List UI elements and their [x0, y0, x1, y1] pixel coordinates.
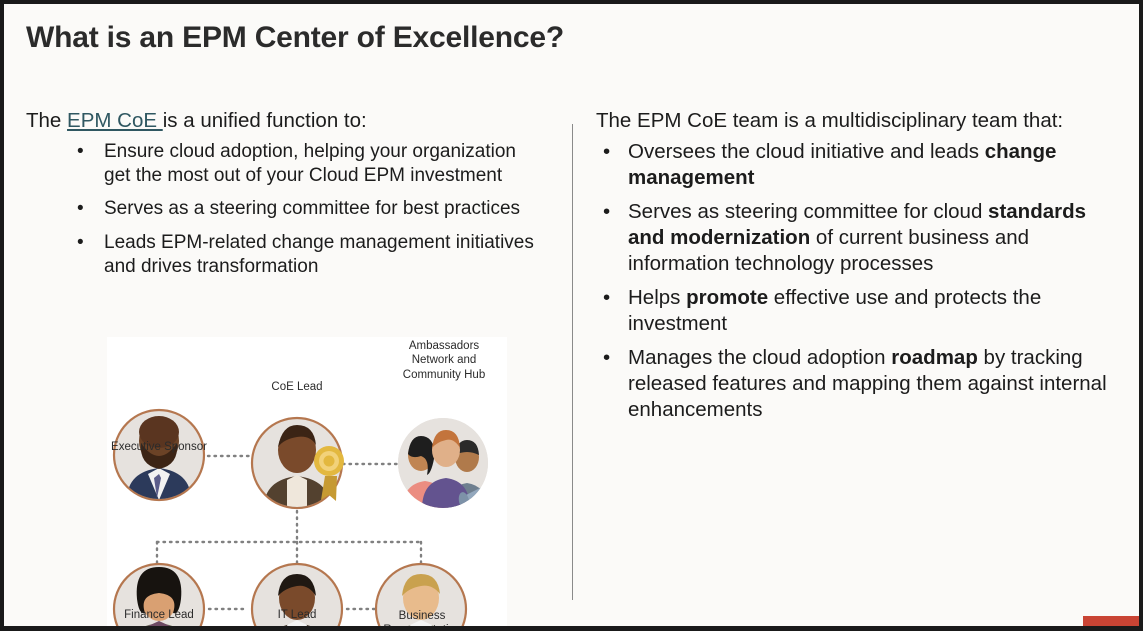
left-intro-paragraph: The EPM CoE is a unified function to: — [26, 108, 546, 134]
list-item-label: Helps promote effective use and protects… — [628, 286, 1041, 335]
list-item-label: Ensure cloud adoption, helping your orga… — [104, 141, 516, 186]
list-item: •Serves as a steering committee for best… — [74, 197, 546, 221]
list-item: •Serves as steering committee for cloud … — [600, 199, 1116, 277]
list-item-label: Serves as steering committee for cloud s… — [628, 200, 1086, 275]
bullet-marker-icon: • — [603, 139, 610, 165]
bullet-marker-icon: • — [77, 140, 84, 164]
bullet-marker-icon: • — [603, 345, 610, 371]
list-item: •Helps promote effective use and protect… — [600, 285, 1116, 337]
epm-coe-link[interactable]: EPM CoE — [67, 109, 163, 132]
accent-bar — [1083, 616, 1139, 628]
left-bullet-list: •Ensure cloud adoption, helping your org… — [74, 140, 546, 279]
left-column: The EPM CoE is a unified function to: •E… — [26, 108, 546, 288]
bullet-marker-icon: • — [77, 197, 84, 221]
list-item: •Oversees the cloud initiative and leads… — [600, 139, 1116, 191]
left-intro-suffix: is a unified function to: — [163, 109, 367, 132]
list-item-label: Oversees the cloud initiative and leads … — [628, 140, 1056, 189]
list-item: •Manages the cloud adoption roadmap by t… — [600, 345, 1116, 423]
list-item-label: Serves as a steering committee for best … — [104, 198, 520, 219]
column-divider — [572, 124, 573, 600]
right-intro-paragraph: The EPM CoE team is a multidisciplinary … — [596, 108, 1116, 135]
left-intro-prefix: The — [26, 109, 67, 132]
list-item: •Leads EPM-related change management ini… — [74, 231, 546, 279]
right-column: The EPM CoE team is a multidisciplinary … — [596, 108, 1116, 431]
org-chart-image: Executive Sponsor CoE Lead Ambassadors N… — [107, 337, 507, 631]
list-item-label: Manages the cloud adoption roadmap by tr… — [628, 346, 1107, 421]
list-item: •Ensure cloud adoption, helping your org… — [74, 140, 546, 188]
bullet-marker-icon: • — [77, 231, 84, 255]
right-bullet-list: •Oversees the cloud initiative and leads… — [600, 139, 1116, 423]
list-item-label: Leads EPM-related change management init… — [104, 232, 534, 277]
bullet-marker-icon: • — [603, 285, 610, 311]
slide: What is an EPM Center of Excellence? The… — [0, 0, 1143, 631]
page-title: What is an EPM Center of Excellence? — [26, 20, 1106, 56]
bullet-marker-icon: • — [603, 199, 610, 225]
